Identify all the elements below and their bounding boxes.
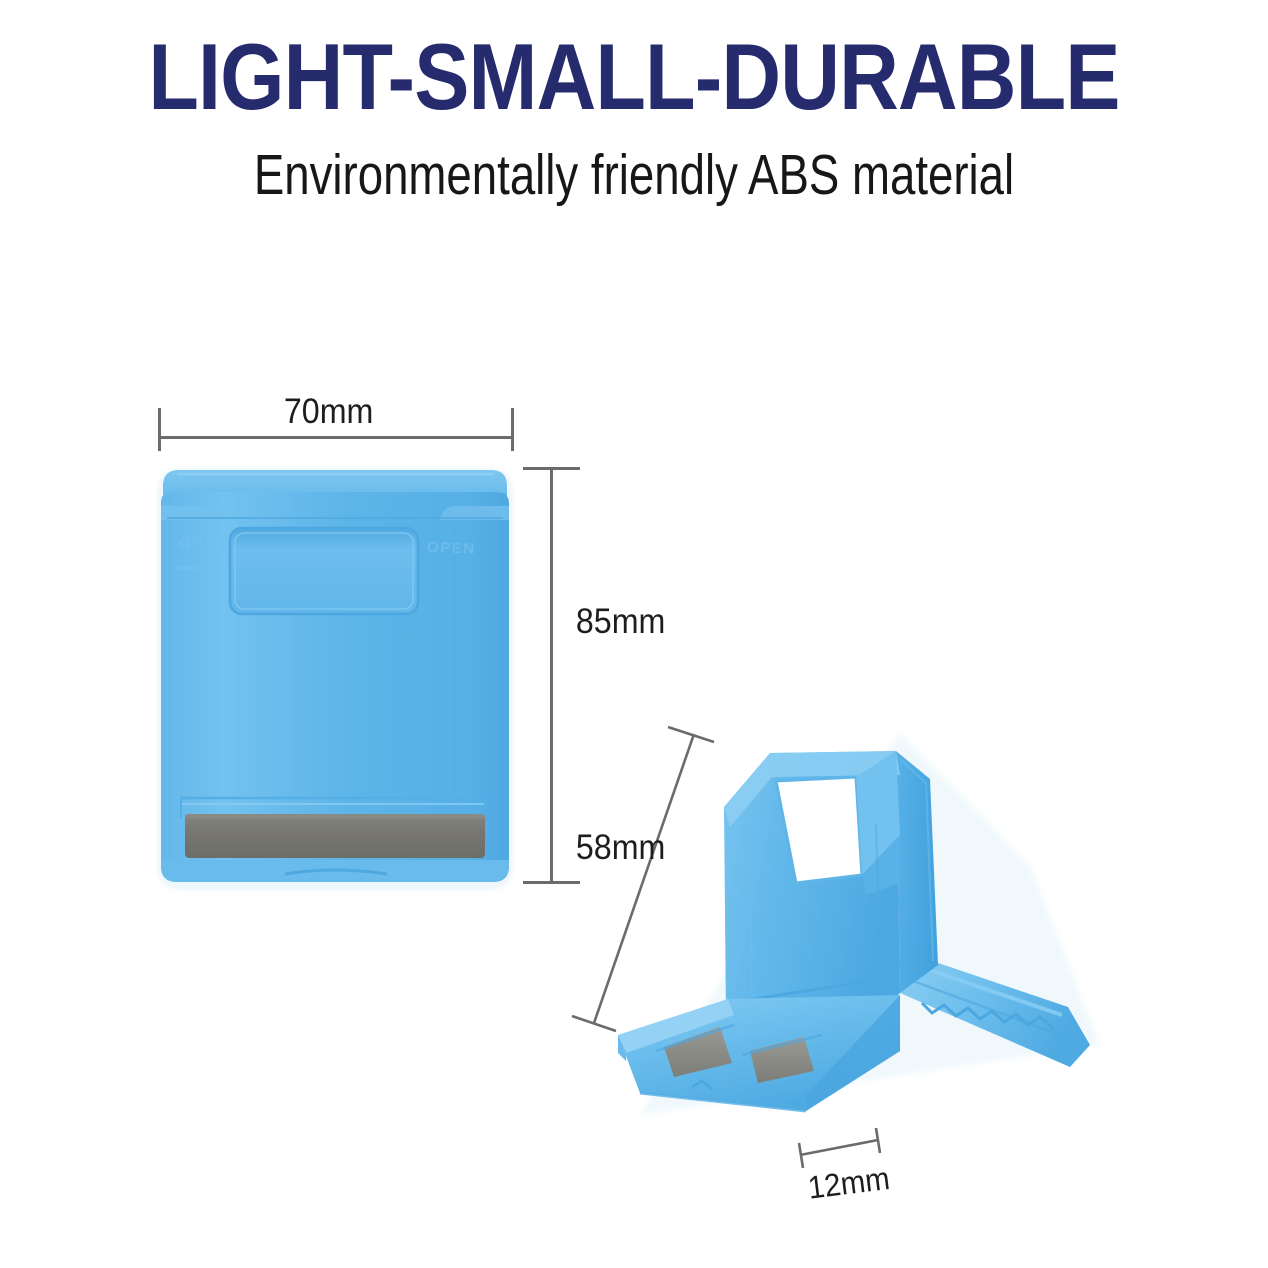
open-label-right: OPEN [427, 539, 476, 558]
dimension-label-depth: 58mm [576, 828, 665, 868]
page-subtitle: Environmentally friendly ABS material [127, 146, 1141, 206]
dimension-line-width [158, 436, 514, 439]
product-infographic: LIGHT-SMALL-DURABLE Environmentally frie… [0, 0, 1268, 1268]
dimension-tick-width-left [158, 408, 161, 451]
dimension-label-height: 85mm [576, 602, 665, 642]
dimension-line-height [550, 468, 553, 884]
cradle-window [230, 528, 418, 614]
page-title: LIGHT-SMALL-DURABLE [76, 28, 1192, 127]
open-label-left: OPEN [179, 535, 228, 552]
unfolded-phone-stand-image [600, 715, 1120, 1155]
dimension-tick-height-bottom [523, 881, 580, 884]
rubber-strip-highlight [185, 814, 485, 819]
dimension-tick-width-right [511, 408, 514, 451]
dimension-tick-height-top [523, 467, 580, 470]
rubber-grip-strip [185, 814, 485, 858]
folded-phone-stand-image: OPEN OPEN [155, 462, 515, 894]
dimension-label-width: 70mm [284, 392, 373, 432]
dimension-label-thickness: 12mm [806, 1160, 892, 1207]
